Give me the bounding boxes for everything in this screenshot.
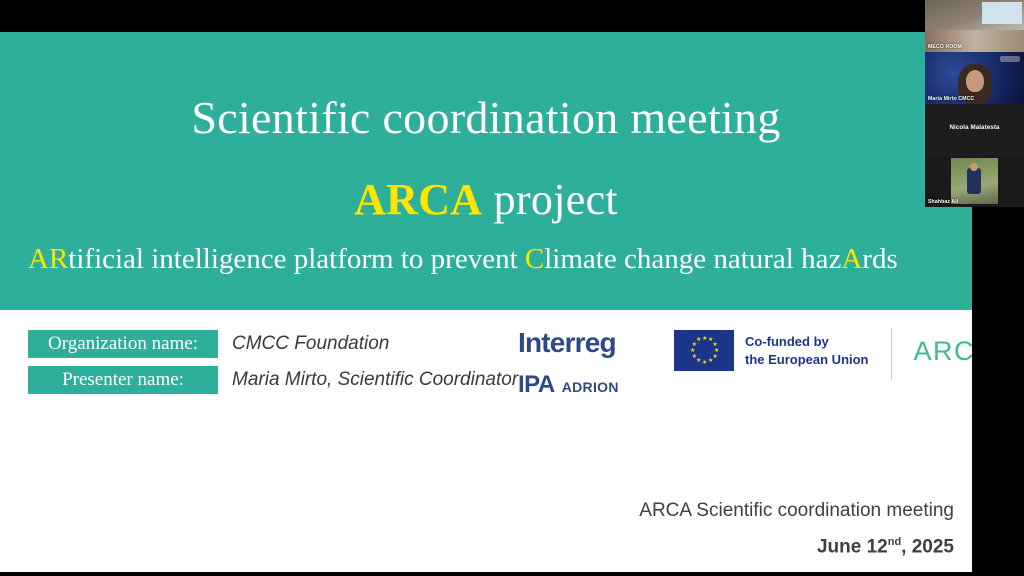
logo-strip: Interreg IPA ADRION ★★★★★★★★★★★★ Co-fund… [518, 328, 995, 399]
video-tile-3-name: Nicola Malatesta [925, 124, 1024, 131]
footer-date: June 12nd, 2025 [639, 536, 954, 558]
interreg-wordmark: Interreg [518, 328, 666, 357]
eu-star-icon: ★ [708, 359, 712, 363]
adrion-wordmark: ADRION [562, 379, 619, 395]
eu-star-icon: ★ [690, 349, 694, 353]
footer-date-prefix: June 12 [817, 536, 888, 557]
organization-row: Organization name: CMCC Foundation [28, 330, 389, 358]
tagline-part-6: rds [862, 243, 897, 275]
eu-star-icon: ★ [714, 349, 718, 353]
eu-star-icon: ★ [712, 343, 716, 347]
ipa-wordmark: IPA [518, 371, 555, 399]
slide-header-band: Scientific coordination meeting ARCA pro… [0, 32, 972, 310]
tagline-part-a: A [841, 243, 862, 275]
eu-star-icon: ★ [702, 361, 706, 365]
presentation-slide: Scientific coordination meeting ARCA pro… [0, 32, 972, 572]
participant-head [970, 163, 978, 171]
tagline-part-2: tificial intelligence platform to preven… [68, 243, 525, 275]
eu-cofunding-logo: ★★★★★★★★★★★★ Co-funded by the European U… [674, 330, 869, 371]
video-tile-4-name: Shahbaz Ali [928, 199, 958, 205]
project-word: project [482, 175, 618, 224]
participant-face [966, 70, 984, 92]
top-black-bar [0, 0, 925, 32]
presenter-value: Maria Mirto, Scientific Coordinator [232, 369, 518, 391]
presenter-row: Presenter name: Maria Mirto, Scientific … [28, 366, 518, 394]
logo-divider [891, 328, 892, 380]
tagline-part-4: limate change natural haz [544, 243, 841, 275]
footer-meeting-name: ARCA Scientific coordination meeting [639, 500, 954, 522]
tagline-part-c: C [525, 243, 544, 275]
footer-date-suffix: , 2025 [901, 536, 954, 557]
eu-star-icon: ★ [708, 338, 712, 342]
presenter-label: Presenter name: [28, 366, 218, 394]
cmcc-watermark [1000, 56, 1020, 62]
project-name-highlight: ARCA [354, 175, 482, 224]
participant-body [967, 168, 981, 194]
right-black-bar [972, 207, 1024, 576]
video-tile-1[interactable]: MECO ROOM [925, 0, 1024, 52]
video-tile-1-name: MECO ROOM [928, 44, 962, 50]
tagline-part-ar: AR [28, 243, 68, 275]
footer-date-ordinal: nd [888, 536, 901, 548]
participant-photo [951, 158, 998, 204]
projector-screen [982, 2, 1022, 24]
slide-title: Scientific coordination meeting [0, 94, 972, 142]
eu-cofunding-text: Co-funded by the European Union [745, 333, 869, 367]
ipa-adrion-lockup: IPA ADRION [518, 371, 666, 399]
eu-text-line1: Co-funded by [745, 333, 869, 350]
slide-body: Organization name: CMCC Foundation Prese… [0, 310, 972, 572]
video-tile-3[interactable]: Nicola Malatesta [925, 104, 1024, 156]
eu-star-icon: ★ [696, 338, 700, 342]
slide-project-title: ARCA project [0, 174, 972, 225]
eu-flag-icon: ★★★★★★★★★★★★ [674, 330, 734, 371]
slide-tagline: ARtificial intelligence platform to prev… [28, 240, 912, 278]
eu-star-icon: ★ [702, 337, 706, 341]
interreg-logo: Interreg IPA ADRION [518, 328, 666, 399]
screen-share-view: Scientific coordination meeting ARCA pro… [0, 0, 1024, 576]
participant-video-panel[interactable]: MECO ROOM Maria Mirto CMCC Nicola Malate… [925, 0, 1024, 207]
video-tile-4[interactable]: Shahbaz Ali [925, 156, 1024, 207]
eu-star-icon: ★ [692, 343, 696, 347]
slide-footer: ARCA Scientific coordination meeting Jun… [639, 500, 954, 558]
video-tile-2[interactable]: Maria Mirto CMCC [925, 52, 1024, 104]
video-tile-2-name: Maria Mirto CMCC [928, 96, 974, 102]
slide-bottom-edge [0, 568, 972, 572]
organization-value: CMCC Foundation [232, 333, 389, 355]
organization-label: Organization name: [28, 330, 218, 358]
eu-text-line2: the European Union [745, 351, 869, 368]
eu-star-icon: ★ [692, 355, 696, 359]
